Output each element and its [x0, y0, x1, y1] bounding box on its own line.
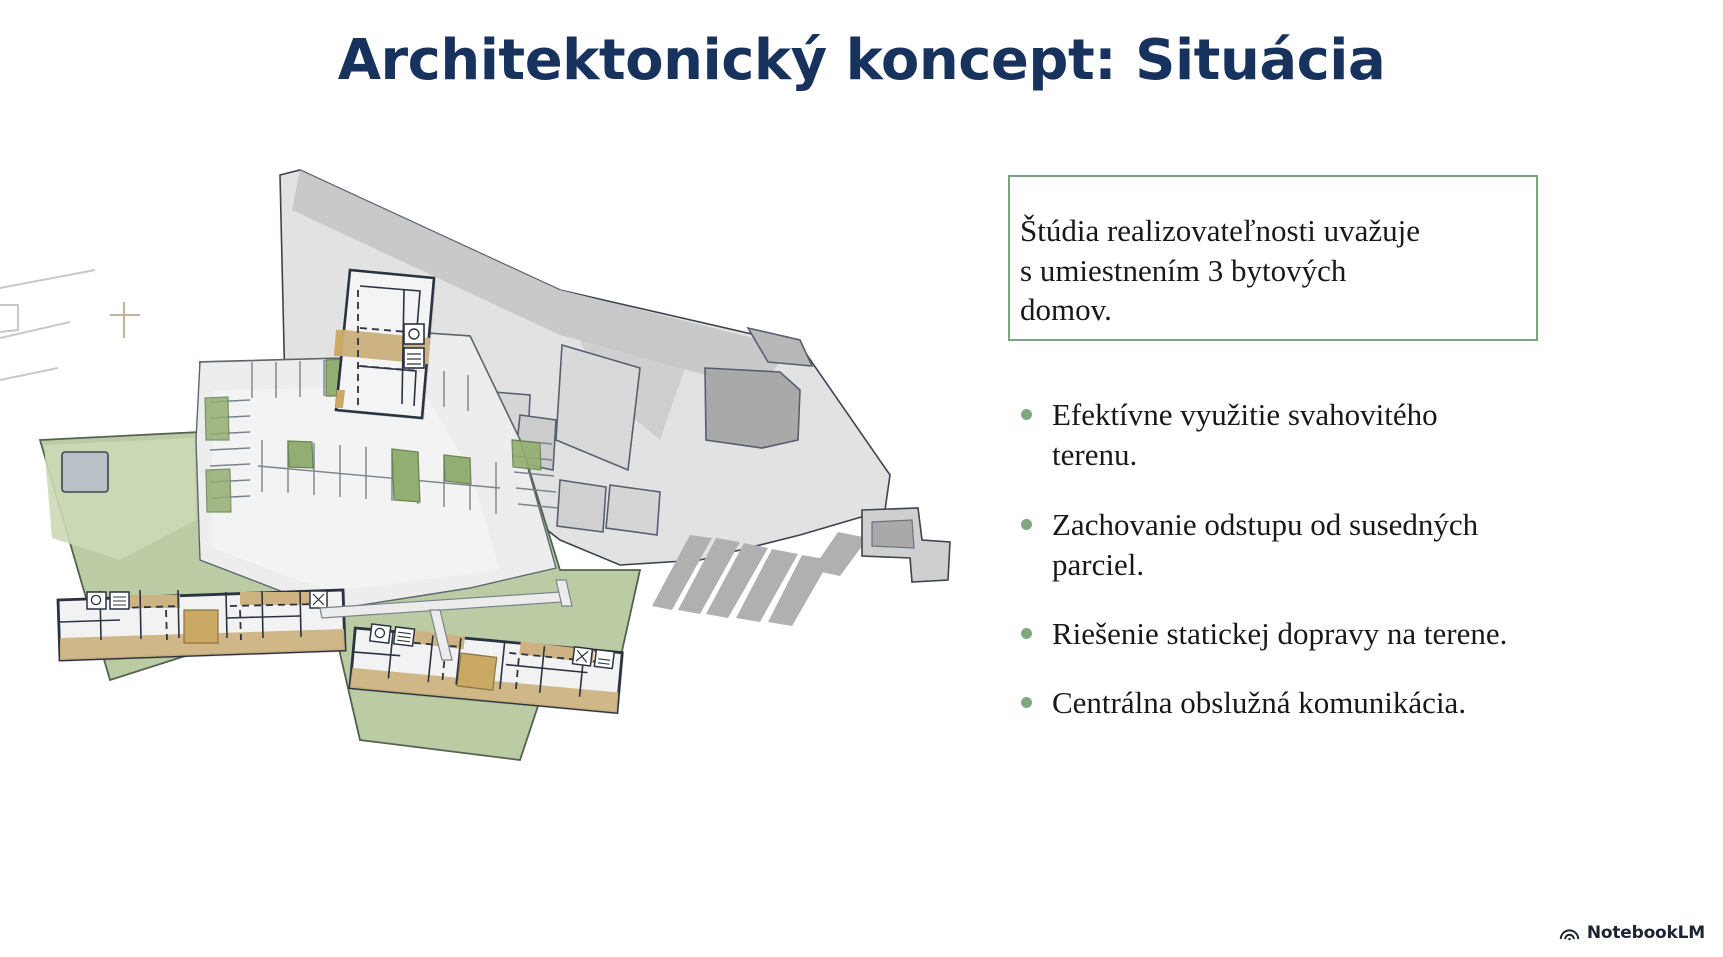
list-item: Efektívne využitie svahovitého terenu. — [1010, 395, 1527, 476]
site-plan-figure — [0, 140, 1010, 840]
content-column: Štúdia realizovateľnosti uvažuje s umies… — [1000, 155, 1700, 855]
list-item: Riešenie statickej dopravy na terene. — [1010, 614, 1527, 654]
bullet-dot-icon — [1021, 628, 1032, 639]
list-item-label: Riešenie statickej dopravy na terene. — [1052, 616, 1507, 651]
page-title: Architektonický koncept: Situácia — [0, 28, 1723, 93]
presentation-slide: Architektonický koncept: Situácia — [0, 0, 1723, 957]
callout-box: Štúdia realizovateľnosti uvažuje s umies… — [1008, 175, 1538, 341]
list-item-label: Centrálna obslužná komunikácia. — [1052, 685, 1466, 720]
building-core — [457, 653, 497, 690]
residential-building-1 — [334, 270, 436, 420]
survey-cross-marker — [110, 302, 140, 338]
list-item: Centrálna obslužná komunikácia. — [1010, 683, 1527, 723]
callout-text: Štúdia realizovateľnosti uvažuje s umies… — [1020, 211, 1420, 330]
list-item-label: Zachovanie odstupu od susedných parciel. — [1052, 507, 1478, 582]
watermark-label: NotebookLM — [1587, 923, 1705, 943]
bullet-dot-icon — [1021, 697, 1032, 708]
list-item: Zachovanie odstupu od susedných parciel. — [1010, 505, 1527, 586]
bullet-dot-icon — [1021, 409, 1032, 420]
context-hatching — [652, 532, 868, 626]
notebooklm-arc-icon — [1559, 925, 1580, 941]
survey-lines — [0, 270, 95, 380]
list-item-label: Efektívne využitie svahovitého terenu. — [1052, 397, 1438, 472]
building-core — [184, 610, 218, 643]
utility-box — [62, 452, 108, 492]
site-plan-svg — [0, 140, 1010, 840]
notebooklm-watermark: NotebookLM — [1559, 923, 1705, 943]
bullet-list: Efektívne využitie svahovitého terenu. Z… — [1010, 395, 1630, 753]
residential-building-2 — [58, 590, 347, 662]
bullet-dot-icon — [1021, 519, 1032, 530]
